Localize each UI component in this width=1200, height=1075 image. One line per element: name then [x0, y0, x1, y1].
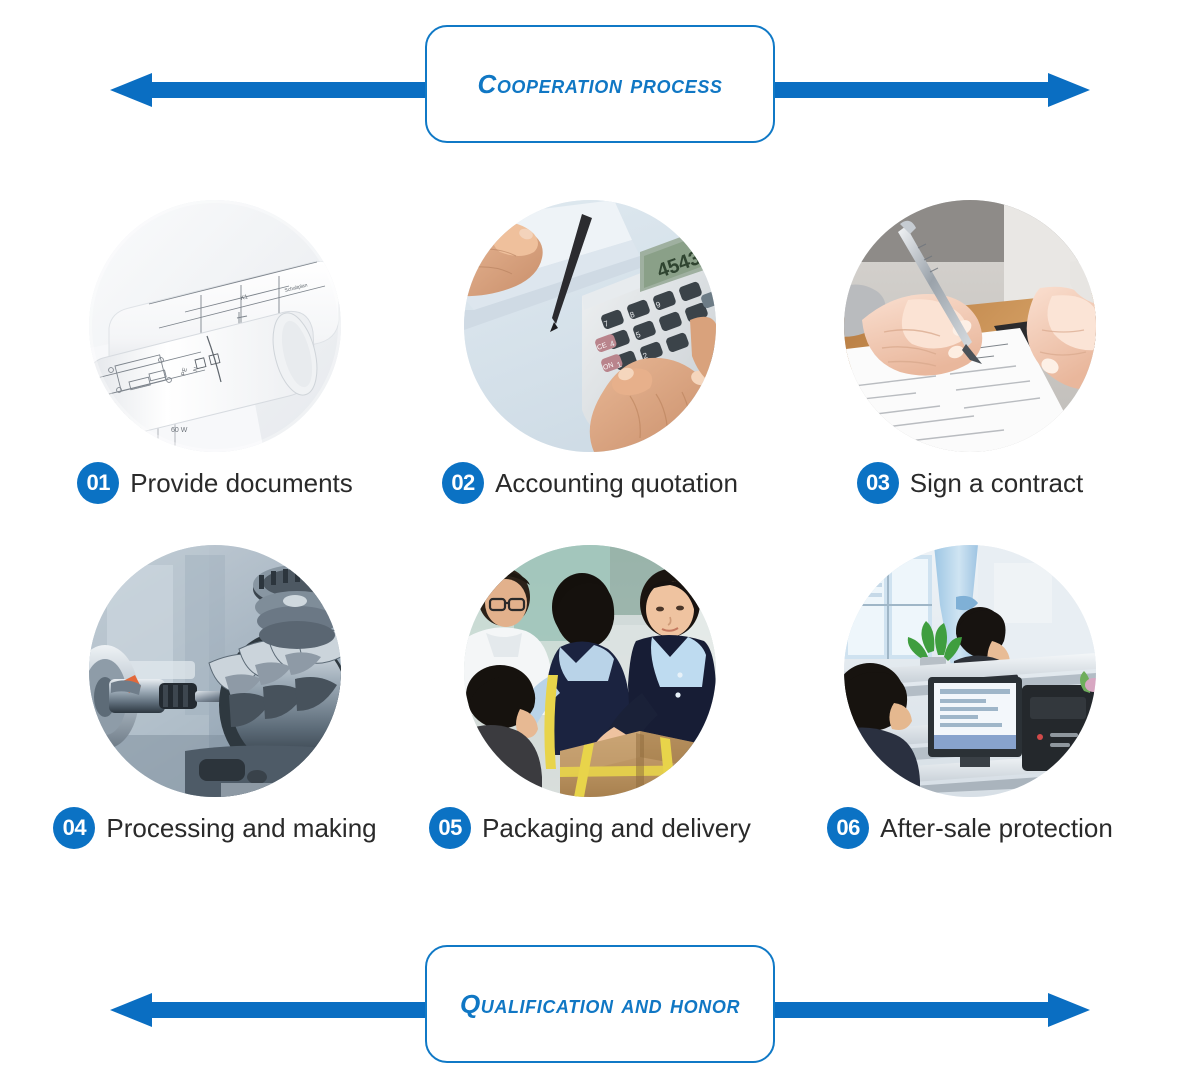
step-number-badge: 06: [827, 807, 869, 849]
step-label: Accounting quotation: [495, 470, 738, 496]
cooperation-process-infographic: Cooperation process: [0, 0, 1200, 1075]
step-label: Provide documents: [130, 470, 353, 496]
step-number-badge: 04: [53, 807, 95, 849]
bottom-banner-title: Qualification and honor: [460, 989, 740, 1020]
step-number-badge: 02: [442, 462, 484, 504]
step-item-02[interactable]: 4543: [395, 200, 785, 530]
calculator-hands-photo: 4543: [464, 200, 716, 452]
step-item-03[interactable]: 03 Sign a contract: [775, 200, 1165, 530]
step-caption-04: 04 Processing and making: [20, 807, 410, 849]
contract-signing-photo: [844, 200, 1096, 452]
office-support-photo: [844, 545, 1096, 797]
top-banner-title-box: Cooperation process: [425, 25, 775, 143]
step-caption-05: 05 Packaging and delivery: [395, 807, 785, 849]
step-number-badge: 03: [857, 462, 899, 504]
step-caption-03: 03 Sign a contract: [775, 462, 1165, 504]
step-caption-02: 02 Accounting quotation: [395, 462, 785, 504]
step-label: After-sale protection: [880, 815, 1113, 841]
blueprint-rolls-photo: 60 W K1 Schaltplan: [89, 200, 341, 452]
svg-text:60 W: 60 W: [171, 427, 188, 434]
step-number-badge: 05: [429, 807, 471, 849]
step-item-04[interactable]: 04 Processing and making: [20, 545, 410, 875]
step-item-05[interactable]: 05 Packaging and delivery: [395, 545, 785, 875]
step-label: Sign a contract: [910, 470, 1083, 496]
bottom-banner: Qualification and honor: [0, 945, 1200, 1075]
top-banner: Cooperation process: [0, 25, 1200, 155]
top-banner-title: Cooperation process: [477, 69, 722, 100]
step-label: Packaging and delivery: [482, 815, 751, 841]
step-row-2: 04 Processing and making: [0, 545, 1200, 875]
packaging-workers-photo: [464, 545, 716, 797]
step-item-06[interactable]: 06 After-sale protection: [775, 545, 1165, 875]
step-caption-06: 06 After-sale protection: [775, 807, 1165, 849]
step-number-badge: 01: [77, 462, 119, 504]
step-caption-01: 01 Provide documents: [20, 462, 410, 504]
cnc-machining-photo: [89, 545, 341, 797]
step-label: Processing and making: [106, 815, 376, 841]
step-row-1: 60 W K1 Schaltplan: [0, 200, 1200, 530]
step-item-01[interactable]: 60 W K1 Schaltplan: [20, 200, 410, 530]
bottom-banner-title-box: Qualification and honor: [425, 945, 775, 1063]
